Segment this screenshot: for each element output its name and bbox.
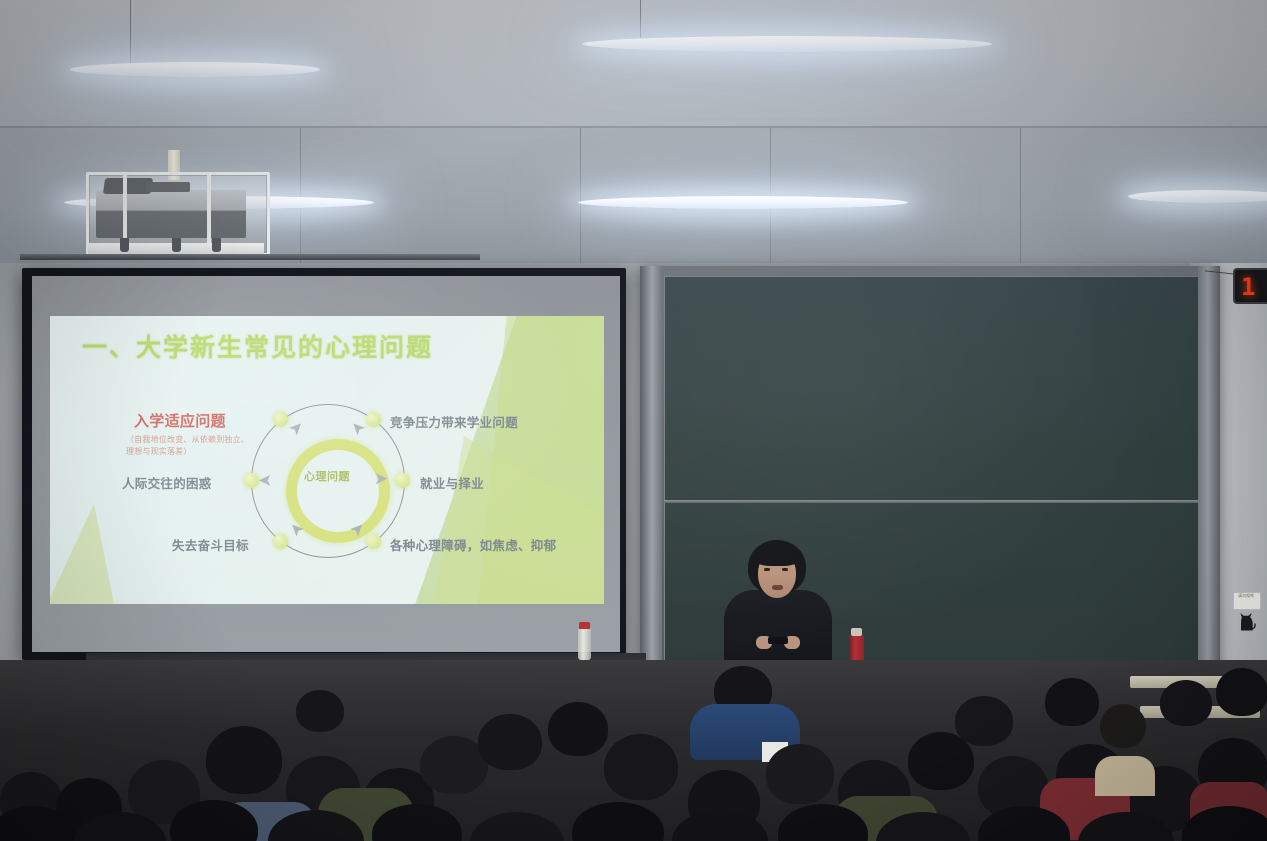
diagram-label-top-right: 竞争压力带来学业问题 [390,412,518,431]
audience-head [548,702,608,756]
led-clock-display: 1 [1233,268,1267,304]
diagram-label-bottom-left: 失去奋斗目标 [172,535,249,554]
audience-head [604,734,678,800]
lecture-hall-photo: 一、大学新生常见的心理问题 心理问题 ➤ ➤ ➤ ➤ ➤ ➤ [0,0,1267,841]
audience-head [955,696,1013,746]
diagram-node-bottom-right [366,534,381,549]
audience-head [1160,680,1212,726]
projector-foot [172,238,181,252]
ceiling-light-tube [582,36,992,52]
diagram-arrow-icon: ➤ [258,471,272,488]
led-clock-digit: 1 [1241,273,1256,301]
audience-head [1045,678,1099,726]
ceiling-rail [20,254,480,260]
audience [0,660,1267,841]
diagram-node-right [395,473,410,488]
audience-head [206,726,282,794]
diagram-node-left [244,473,259,488]
audience-head [766,744,834,804]
blackboard-divider [664,500,1212,503]
diagram-center-label: 心理问题 [286,468,368,484]
wall-panel-line [300,128,301,263]
diagram-arrow-icon: ➤ [374,471,388,488]
water-bottle-cap [579,622,590,629]
thermos-cap [851,628,862,636]
diagram-label-left: 人际交往的困惑 [122,473,212,492]
presenter-eye [782,568,788,571]
wall-sign-text: 请勿喧哗 [1234,593,1258,599]
audience-head [296,690,344,732]
water-bottle [578,628,591,660]
projector-foot [120,238,129,252]
presenter-hair-fringe [752,544,802,566]
audience-head [1216,668,1267,716]
projector-foot [212,238,221,252]
projection-screen-surface: 一、大学新生常见的心理问题 心理问题 ➤ ➤ ➤ ➤ ➤ ➤ [32,276,620,652]
presenter-mouth [772,585,783,590]
cat-silhouette-icon [1236,612,1256,634]
presentation-slide: 一、大学新生常见的心理问题 心理问题 ➤ ➤ ➤ ➤ ➤ ➤ [50,316,604,604]
audience-head [1100,704,1146,748]
presenter-eye [764,568,770,571]
diagram-label-right: 就业与择业 [420,473,484,492]
wall-panel-line [580,128,581,263]
audience-person-beige [1095,756,1155,796]
diagram-node-bottom-left [273,534,288,549]
diagram-label-bottom-right: 各种心理障碍，如焦虑、抑郁 [390,535,556,554]
presenter-clicker [768,637,788,644]
ceiling-light-tube [578,196,908,209]
light-wire [130,0,131,66]
light-wire [640,0,641,38]
slide-diagram: 心理问题 ➤ ➤ ➤ ➤ ➤ ➤ 入学适应问题 （自我地位改变、从依赖到独立、理… [50,316,604,604]
diagram-sublabel-top-left: （自我地位改变、从依赖到独立、理想与现实落差） [126,434,256,457]
diagram-label-top-left: 入学适应问题 [134,410,226,431]
blackboard-left-rail [640,266,662,684]
audience-head [478,714,542,770]
wall-panel-line [1020,128,1021,263]
blackboard-right-rail [1198,266,1220,684]
audience-head [908,732,974,790]
ceiling-light-tube [70,62,320,77]
